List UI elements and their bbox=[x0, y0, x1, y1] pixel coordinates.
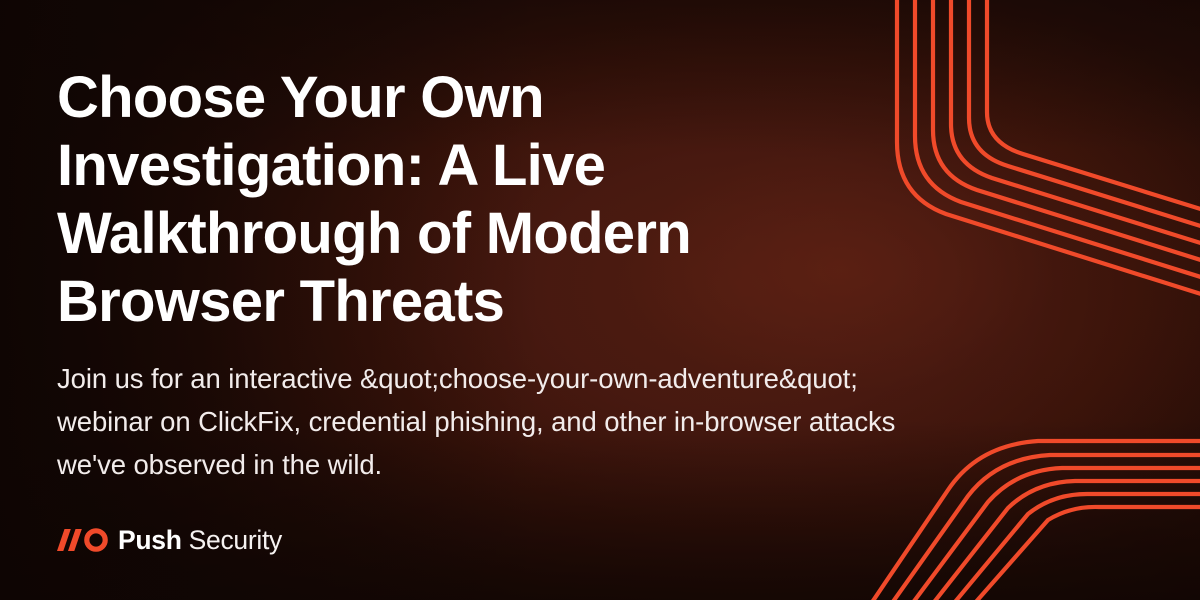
logo-wordmark: Push Security bbox=[118, 525, 282, 555]
logo-product-text: Security bbox=[189, 525, 282, 555]
slash-slash-o-mark-icon bbox=[57, 527, 109, 553]
webinar-promo-banner: Choose Your Own Investigation: A Live Wa… bbox=[0, 0, 1200, 600]
logo-brand-text: Push bbox=[118, 525, 182, 555]
page-title: Choose Your Own Investigation: A Live Wa… bbox=[57, 64, 887, 336]
banner-description: Join us for an interactive &quot;choose-… bbox=[57, 357, 897, 486]
push-security-logo: Push Security bbox=[57, 523, 282, 557]
banner-content: Choose Your Own Investigation: A Live Wa… bbox=[57, 0, 917, 600]
